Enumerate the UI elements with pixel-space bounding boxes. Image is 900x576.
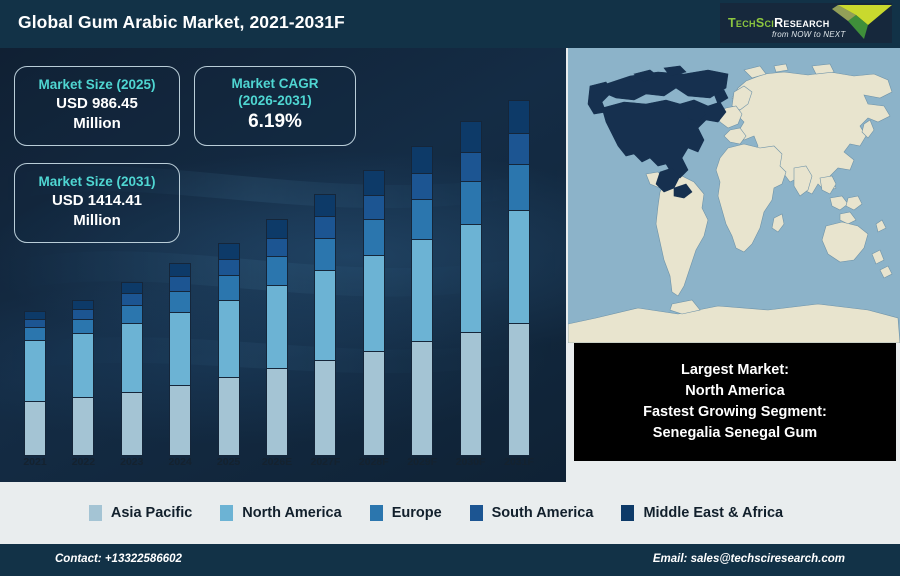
bar-segment-south-america [121,293,143,305]
bar-segment-europe [218,275,240,299]
bar-2029F[interactable] [411,146,433,456]
bar-segment-south-america [363,195,385,218]
page-title: Global Gum Arabic Market, 2021-2031F [18,12,345,33]
bar-2023[interactable] [121,282,143,456]
x-tick-2022: 2022 [61,456,105,468]
bar-segment-north-america [411,239,433,341]
bar-segment-asia-pacific [460,332,482,456]
legend-label: South America [492,505,594,521]
legend-label: Middle East & Africa [643,505,783,521]
bar-segment-middle-east-africa [363,170,385,196]
bar-segment-middle-east-africa [460,121,482,152]
bar-segment-north-america [363,255,385,350]
x-tick-2026E: 2026E [255,456,299,468]
bar-segment-europe [508,164,530,209]
bar-segment-europe [363,219,385,256]
bar-segment-south-america [460,152,482,181]
footer-contact: Contact: +13322586602 [55,553,182,565]
bar-segment-middle-east-africa [72,300,94,309]
bar-segment-europe [72,319,94,333]
bar-segment-asia-pacific [72,397,94,456]
legend-swatch [220,505,233,521]
bar-segment-middle-east-africa [314,194,336,216]
x-tick-2029F: 2029F [400,456,444,468]
legend-swatch [89,505,102,521]
bar-2030F[interactable] [460,121,482,456]
legend-item-south-america[interactable]: South America [470,505,622,521]
callout-line-1: Largest Market: [681,360,789,381]
bar-segment-south-america [314,216,336,237]
x-tick-2028F: 2028F [352,456,396,468]
bar-segment-north-america [24,340,46,401]
legend-label: Asia Pacific [111,505,192,521]
x-tick-2027F: 2027F [303,456,347,468]
bar-segment-south-america [508,133,530,164]
x-tick-2024: 2024 [158,456,202,468]
bar-segment-asia-pacific [24,401,46,456]
legend-swatch [370,505,383,521]
bar-segment-north-america [314,270,336,360]
bar-segment-middle-east-africa [508,100,530,133]
logo-tagline: from NOW to NEXT [772,30,845,39]
chart-legend: Asia PacificNorth AmericaEuropeSouth Ame… [0,482,900,544]
bar-segment-asia-pacific [411,341,433,456]
callout-line-2: North America [685,381,784,402]
bar-segment-middle-east-africa [266,219,288,238]
bar-segment-europe [266,256,288,285]
legend-label: North America [242,505,341,521]
bar-segment-europe [169,291,191,312]
bar-segment-south-america [411,173,433,199]
legend-item-asia-pacific[interactable]: Asia Pacific [89,505,220,521]
bar-segment-asia-pacific [314,360,336,456]
chart-panel: Market Size (2025) USD 986.45 Million Ma… [0,48,566,482]
legend-label: Europe [392,505,442,521]
x-tick-2021: 2021 [13,456,57,468]
bar-segment-north-america [218,300,240,378]
bar-2024[interactable] [169,263,191,456]
world-map [568,48,900,343]
bar-segment-north-america [169,312,191,385]
header-bar: Global Gum Arabic Market, 2021-2031F Tec… [0,0,900,48]
bar-2031F[interactable] [508,100,530,456]
bar-segment-middle-east-africa [218,243,240,259]
x-tick-2030F: 2030F [449,456,493,468]
bar-segment-north-america [72,333,94,397]
chart-x-axis: 202120222023202420252026E2027F2028F2029F… [0,456,566,482]
bar-2028F[interactable] [363,170,385,456]
bar-segment-north-america [121,323,143,392]
market-highlights-callout: Largest Market: North America Fastest Gr… [574,343,896,461]
bar-segment-asia-pacific [121,392,143,456]
bar-segment-north-america [508,210,530,323]
x-tick-2023: 2023 [110,456,154,468]
bar-segment-south-america [24,319,46,328]
bar-segment-north-america [460,224,482,332]
x-tick-2025: 2025 [207,456,251,468]
bar-segment-middle-east-africa [24,311,46,319]
bar-segment-asia-pacific [266,368,288,456]
callout-line-4: Senegalia Senegal Gum [653,423,817,444]
bar-segment-asia-pacific [169,385,191,456]
legend-swatch [621,505,634,521]
stacked-bar-chart [0,48,566,482]
bar-segment-europe [314,238,336,270]
bar-segment-middle-east-africa [121,282,143,293]
bar-segment-south-america [218,259,240,276]
bar-segment-south-america [72,309,94,319]
callout-line-3: Fastest Growing Segment: [643,402,827,423]
x-tick-2031F: 2031F [497,456,541,468]
bar-segment-europe [121,305,143,323]
footer-email: Email: sales@techsciresearch.com [653,553,845,565]
footer-bar: Contact: +13322586602 Email: sales@techs… [0,544,900,576]
techsci-research-logo: TechSciResearch from NOW to NEXT [720,3,892,43]
bar-segment-asia-pacific [508,323,530,456]
bar-segment-south-america [169,276,191,290]
bar-segment-middle-east-africa [169,263,191,276]
legend-item-europe[interactable]: Europe [370,505,470,521]
world-map-svg [568,48,900,343]
bar-segment-asia-pacific [363,351,385,456]
bar-segment-middle-east-africa [411,146,433,174]
legend-item-north-america[interactable]: North America [220,505,369,521]
logo-research-text: Research [774,16,829,30]
bar-segment-north-america [266,285,288,368]
bar-segment-asia-pacific [218,377,240,456]
bar-2021[interactable] [24,311,46,456]
bar-2022[interactable] [72,300,94,456]
bar-segment-europe [24,327,46,339]
bar-2026E[interactable] [266,219,288,456]
bar-segment-europe [460,181,482,224]
bar-2027F[interactable] [314,194,336,456]
bar-segment-south-america [266,238,288,257]
logo-wordmark: TechSciResearch [728,16,830,30]
legend-item-middle-east-africa[interactable]: Middle East & Africa [621,505,811,521]
bar-2025[interactable] [218,243,240,456]
bar-segment-europe [411,199,433,239]
legend-swatch [470,505,483,521]
logo-tech-text: TechSci [728,16,774,30]
infographic-page: Global Gum Arabic Market, 2021-2031F Tec… [0,0,900,576]
